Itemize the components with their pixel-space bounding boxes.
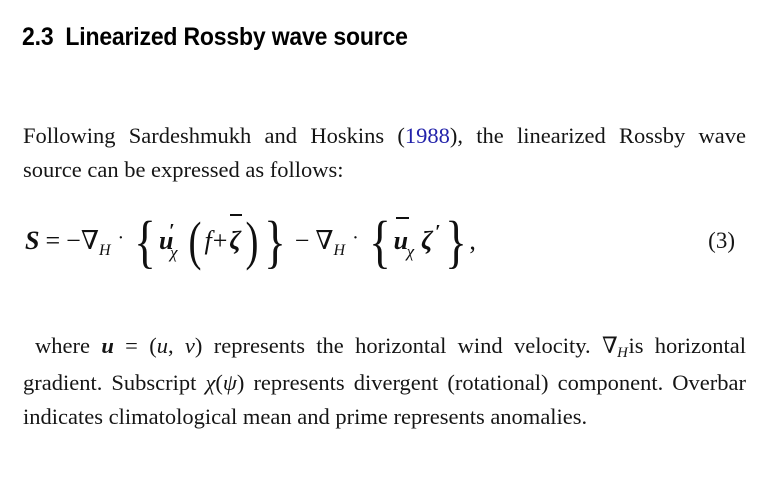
intro-paragraph: Following Sardeshmukh and Hoskins (1988)… [23, 119, 746, 187]
zeta-base-glyph: ζ [421, 226, 432, 255]
zeta-base-glyph: ζ [229, 226, 240, 255]
where-equals-open: = ( [114, 333, 157, 358]
u-vector-symbol: u [101, 333, 114, 358]
section-title: Linearized Rossby wave source [65, 23, 407, 51]
middle-minus-sign: − [289, 226, 316, 256]
brace-close-1: } [264, 224, 286, 260]
chi-subscript: χ [407, 242, 414, 262]
leading-minus-sign: − [66, 226, 81, 256]
section-heading: 2.3Linearized Rossby wave source [22, 22, 408, 52]
where-comma-sep: , [168, 333, 185, 358]
where-paragraph: where u = (u, v) represents the horizont… [23, 329, 746, 434]
intro-text-before-citation: Following Sardeshmukh and Hoskins ( [23, 123, 405, 148]
dot-operator-1: · [111, 227, 132, 250]
overbar-mark-u [396, 217, 409, 219]
nabla-icon: ∇ [315, 226, 333, 255]
nabla-subscript-h: H [99, 242, 111, 259]
chi-symbol-inline: χ [205, 370, 215, 395]
u-overbar-chi-term: u χ [394, 226, 421, 256]
brace-open-1: { [134, 224, 156, 260]
nabla-h-operator-1: ∇H [81, 226, 111, 256]
paren-close: ) [245, 225, 258, 258]
zeta-overbar-term: ζ [227, 226, 242, 256]
dot-operator-2: · [345, 227, 366, 250]
section-number: 2.3 [22, 23, 53, 51]
display-equation-block: S = − ∇H · { u ′ χ ( f + ζ ) } − [23, 198, 746, 284]
where-lead-text: where [23, 333, 101, 358]
plus-sign: + [213, 226, 228, 256]
psi-symbol-inline: ψ [223, 370, 237, 395]
overbar-mark-zeta [230, 214, 241, 216]
prime-mark: ′ [435, 221, 441, 244]
u-prime-chi-term: u ′ χ [159, 226, 185, 256]
zeta-prime-term: ζ ′ [421, 226, 441, 256]
document-page: 2.3Linearized Rossby wave source Followi… [0, 0, 772, 484]
coriolis-parameter-f: f [204, 226, 213, 256]
prime-mark: ′ [169, 220, 175, 243]
nabla-icon: ∇ [81, 226, 99, 255]
nabla-subscript-h: H [334, 242, 346, 259]
nabla-icon: ∇ [602, 333, 618, 358]
brace-close-2: } [445, 224, 467, 260]
paren-open: ( [188, 225, 201, 258]
paren-open-inline: ( [215, 370, 223, 395]
equals-sign: = [39, 226, 66, 256]
nabla-subscript-h: H [617, 345, 628, 361]
nabla-h-operator-2: ∇H [315, 226, 345, 256]
equation-number: (3) [708, 198, 735, 284]
nabla-h-inline: ∇H [602, 329, 628, 366]
equation-lhs-S: S [25, 226, 39, 256]
where-text-2: ) represents the horizontal wind velocit… [195, 333, 602, 358]
trailing-comma: , [469, 226, 476, 256]
citation-link-1988[interactable]: 1988 [405, 123, 450, 148]
chi-subscript: χ [170, 243, 177, 263]
brace-open-2: { [369, 224, 391, 260]
equation-expression: S = − ∇H · { u ′ χ ( f + ζ ) } − [25, 198, 476, 284]
v-component-symbol: v [185, 333, 195, 358]
u-component-symbol: u [157, 333, 168, 358]
